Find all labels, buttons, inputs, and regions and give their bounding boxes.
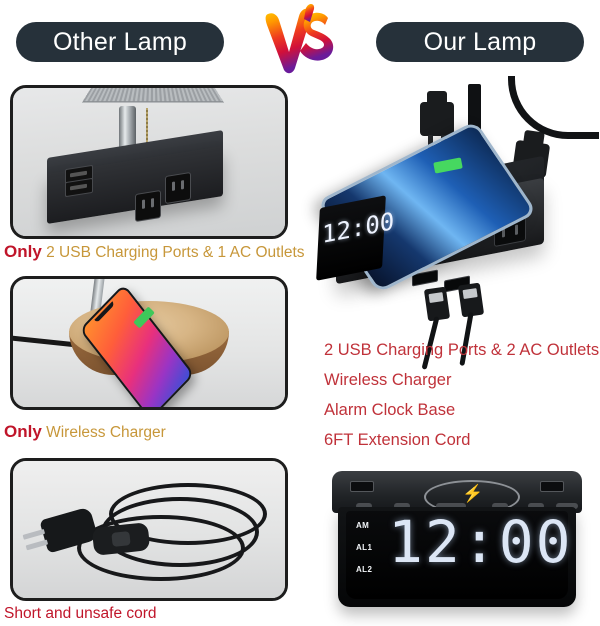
comparison-infographic: Other Lamp Our Lamp [0, 0, 600, 626]
our-lamp-badge-label: Our Lamp [424, 28, 537, 57]
feature-item: 2 USB Charging Ports & 2 AC Outlets [324, 335, 599, 365]
usb-port-icon [540, 481, 564, 492]
indicator-al1: AL1 [356, 543, 372, 552]
our-lamp-badge: Our Lamp [376, 22, 584, 62]
indicator-al2: AL2 [356, 565, 372, 574]
caption-text: Short and unsafe cord [4, 605, 157, 622]
feature-item: Alarm Clock Base [324, 395, 599, 425]
vs-icon [262, 2, 340, 78]
caption-only-emphasis: Only [4, 242, 42, 261]
lamp-shade [82, 85, 224, 103]
caption-only-emphasis: Only [4, 422, 42, 441]
feature-item: 6FT Extension Cord [324, 425, 599, 455]
other-lamp-column: Only 2 USB Charging Ports & 1 AC Outlets… [0, 80, 300, 626]
caption-ports: Only 2 USB Charging Ports & 1 AC Outlets [4, 242, 305, 262]
usb-port-icon [350, 481, 374, 492]
wooden-base-wireless-charging-photo [10, 276, 288, 410]
caption-wireless: Only Wireless Charger [4, 422, 166, 442]
clock-time-display: 12:00 [388, 513, 573, 571]
ac-outlet-icon [135, 190, 161, 222]
charging-station-with-phone-photo: 12:00 [308, 80, 600, 328]
other-lamp-badge: Other Lamp [16, 22, 224, 62]
ac-plug-icon [420, 102, 454, 136]
inline-switch [92, 522, 151, 556]
indicator-am: AM [356, 521, 372, 530]
clock-indicator-labels: AM AL1 AL2 [356, 521, 372, 587]
feature-list: 2 USB Charging Ports & 2 AC Outlets Wire… [324, 335, 599, 455]
lamp-base-with-ports-photo [10, 85, 288, 239]
feature-item: Wireless Charger [324, 365, 599, 395]
short-power-cord-photo [10, 458, 288, 601]
our-lamp-column: 12:00 2 USB Charging Ports & 2 AC Outlet… [300, 80, 600, 626]
ac-outlet-icon [165, 172, 191, 204]
lightning-bolt-icon: ⚡ [462, 484, 483, 504]
alarm-clock-base-photo: ⚡ AM AL1 AL2 12:00 [320, 465, 592, 623]
header: Other Lamp Our Lamp [0, 0, 600, 80]
caption-text: Wireless Charger [46, 424, 166, 441]
other-lamp-badge-label: Other Lamp [53, 28, 187, 57]
caption-cord: Short and unsafe cord [4, 605, 157, 623]
caption-text: 2 USB Charging Ports & 1 AC Outlets [46, 244, 304, 261]
